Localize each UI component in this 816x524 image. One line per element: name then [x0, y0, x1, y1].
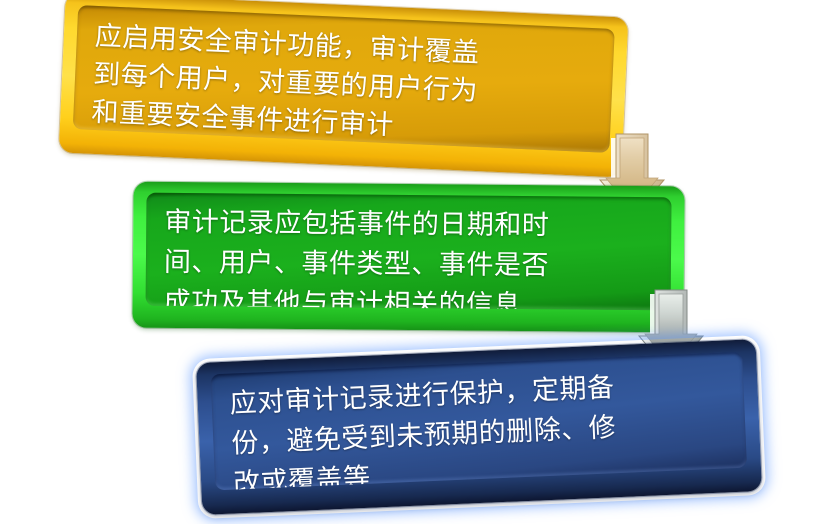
diagram-canvas: 应启用安全审计功能，审计覆盖 到每个用户，对重要的用户行为 和重要安全事件进行审… [0, 0, 816, 524]
process-step-blue[interactable]: 应对审计记录进行保护，定期备 份，避免受到未预期的删除、修 改或覆盖等 [196, 339, 762, 515]
process-step-green-label: 审计记录应包括事件的日期和时 间、用户、事件类型、事件是否 成功及其他与审计相关… [146, 193, 672, 311]
process-step-blue-label: 应对审计记录进行保护，定期备 份，避免受到未预期的删除、修 改或覆盖等 [211, 352, 747, 491]
process-step-green-inner-panel: 审计记录应包括事件的日期和时 间、用户、事件类型、事件是否 成功及其他与审计相关… [146, 193, 672, 311]
process-step-gold[interactable]: 应启用安全审计功能，审计覆盖 到每个用户，对重要的用户行为 和重要安全事件进行审… [59, 0, 629, 177]
process-step-green[interactable]: 审计记录应包括事件的日期和时 间、用户、事件类型、事件是否 成功及其他与审计相关… [132, 182, 684, 333]
process-step-gold-inner-panel: 应启用安全审计功能，审计覆盖 到每个用户，对重要的用户行为 和重要安全事件进行审… [73, 5, 615, 153]
process-step-gold-label: 应启用安全审计功能，审计覆盖 到每个用户，对重要的用户行为 和重要安全事件进行审… [73, 5, 615, 153]
process-step-blue-inner-panel: 应对审计记录进行保护，定期备 份，避免受到未预期的删除、修 改或覆盖等 [211, 352, 747, 491]
